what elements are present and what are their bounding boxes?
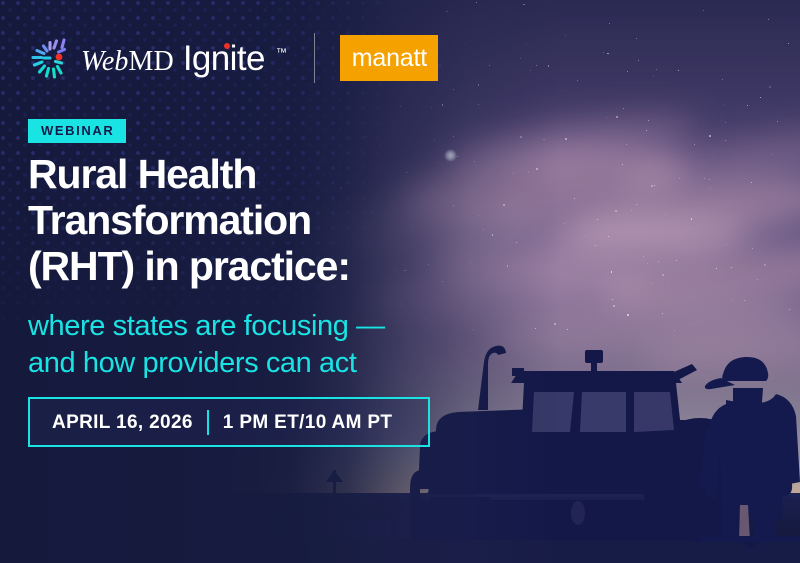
webmd-ignite-logo[interactable]: WebMD Ignite ™ — [28, 36, 286, 80]
headline-line: Rural Health — [28, 152, 458, 198]
farmer-ground-shadow — [700, 536, 800, 542]
webinar-badge: WEBINAR — [28, 119, 126, 143]
webmd-ignite-wordmark: WebMD Ignite ™ — [81, 41, 286, 76]
event-time: 1 PM ET/10 AM PT — [223, 413, 393, 432]
webinar-promo-banner: WebMD Ignite ™ manatt WEBINAR Rural Heal… — [0, 0, 800, 563]
starburst-spark-icon — [28, 36, 70, 80]
subheadline-line: and how providers can act — [28, 345, 458, 382]
ignite-text: Ignite ™ — [183, 41, 287, 76]
page-title: Rural Health Transformation (RHT) in pra… — [28, 152, 458, 290]
tractor-headlight — [571, 501, 585, 525]
ignite-i-dot-icon — [224, 43, 230, 49]
webmd-md-caps: MD — [128, 46, 173, 77]
page-subtitle: where states are focusing — and how prov… — [28, 308, 458, 382]
webmd-web-italic: Web — [81, 46, 128, 77]
webmd-text: WebMD — [81, 48, 174, 76]
brand-header: WebMD Ignite ™ manatt — [28, 33, 438, 83]
datetime-separator — [207, 410, 209, 435]
header-divider — [314, 33, 315, 83]
manatt-logo[interactable]: manatt — [340, 35, 438, 81]
manatt-label: manatt — [352, 46, 427, 71]
headline-line: (RHT) in practice: — [28, 244, 458, 290]
event-datetime-box: APRIL 16, 2026 1 PM ET/10 AM PT — [28, 397, 430, 447]
event-date: APRIL 16, 2026 — [30, 413, 193, 432]
subheadline-line: where states are focusing — — [28, 308, 458, 345]
trademark-symbol: ™ — [276, 47, 286, 59]
headline-line: Transformation — [28, 198, 458, 244]
spark-red-dot — [56, 54, 63, 61]
